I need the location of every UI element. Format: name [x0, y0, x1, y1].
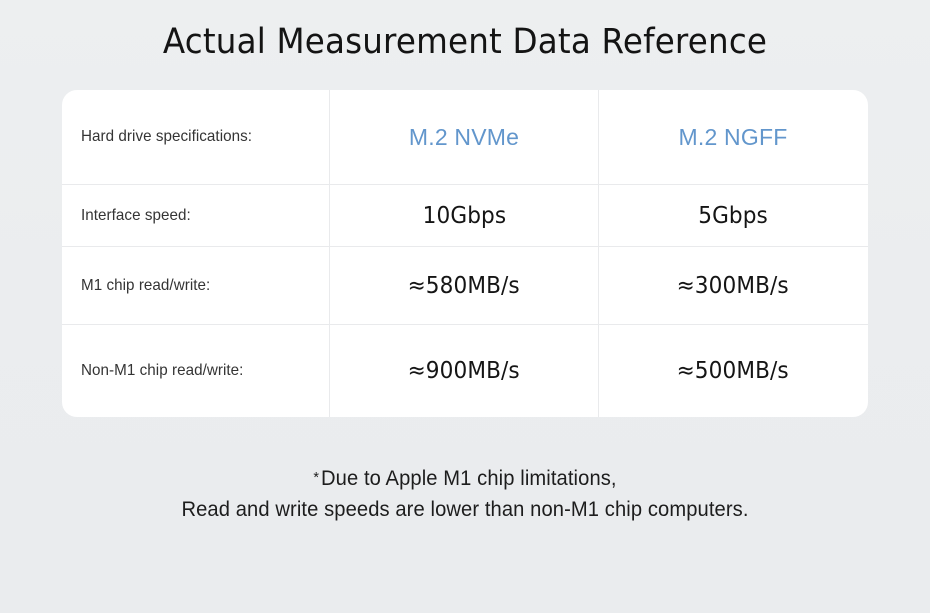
header-cell-nvme: M.2 NVMe — [330, 90, 599, 184]
row-label-non-m1-chip-read-write: Non-M1 chip read/write: — [81, 361, 243, 381]
row-value-cell-nvme: ≈900MB/s — [330, 325, 599, 417]
row-value-cell-nvme: ≈580MB/s — [330, 247, 599, 324]
table-row: Non-M1 chip read/write: ≈900MB/s ≈500MB/… — [62, 325, 868, 417]
column-header-nvme: M.2 NVMe — [409, 123, 519, 151]
row-label-cell: Interface speed: — [62, 185, 330, 246]
row-value-cell-ngff: ≈500MB/s — [599, 325, 867, 417]
value-interface-speed-ngff: 5Gbps — [698, 202, 768, 230]
column-header-ngff: M.2 NGFF — [679, 123, 788, 151]
row-label-interface-speed: Interface speed: — [81, 206, 191, 226]
value-interface-speed-nvme: 10Gbps — [422, 202, 506, 230]
row-label-m1-chip-read-write: M1 chip read/write: — [81, 276, 210, 296]
header-cell-ngff: M.2 NGFF — [599, 90, 867, 184]
header-cell-label: Hard drive specifications: — [62, 90, 330, 184]
row-value-cell-ngff: 5Gbps — [599, 185, 867, 246]
page-root: Actual Measurement Data Reference Hard d… — [0, 0, 930, 613]
asterisk-marker: * — [313, 469, 319, 486]
footnote: *Due to Apple M1 chip limitations, Read … — [0, 462, 930, 525]
value-m1-chip-ngff: ≈300MB/s — [677, 272, 789, 300]
page-title: Actual Measurement Data Reference — [33, 20, 898, 64]
footnote-line-2: Read and write speeds are lower than non… — [19, 494, 912, 525]
value-non-m1-chip-ngff: ≈500MB/s — [677, 357, 789, 385]
comparison-table-card: Hard drive specifications: M.2 NVMe M.2 … — [62, 90, 868, 417]
value-m1-chip-nvme: ≈580MB/s — [408, 272, 520, 300]
table-row: Interface speed: 10Gbps 5Gbps — [62, 185, 868, 247]
hard-drive-specifications-label: Hard drive specifications: — [81, 127, 252, 147]
footnote-text-1: Due to Apple M1 chip limitations, — [321, 467, 617, 490]
row-label-cell: Non-M1 chip read/write: — [62, 325, 330, 417]
row-value-cell-nvme: 10Gbps — [330, 185, 599, 246]
value-non-m1-chip-nvme: ≈900MB/s — [408, 357, 520, 385]
row-value-cell-ngff: ≈300MB/s — [599, 247, 867, 324]
row-label-cell: M1 chip read/write: — [62, 247, 330, 324]
footnote-line-1: *Due to Apple M1 chip limitations, — [19, 462, 912, 494]
table-row: M1 chip read/write: ≈580MB/s ≈300MB/s — [62, 247, 868, 325]
table-header-row: Hard drive specifications: M.2 NVMe M.2 … — [62, 90, 868, 185]
